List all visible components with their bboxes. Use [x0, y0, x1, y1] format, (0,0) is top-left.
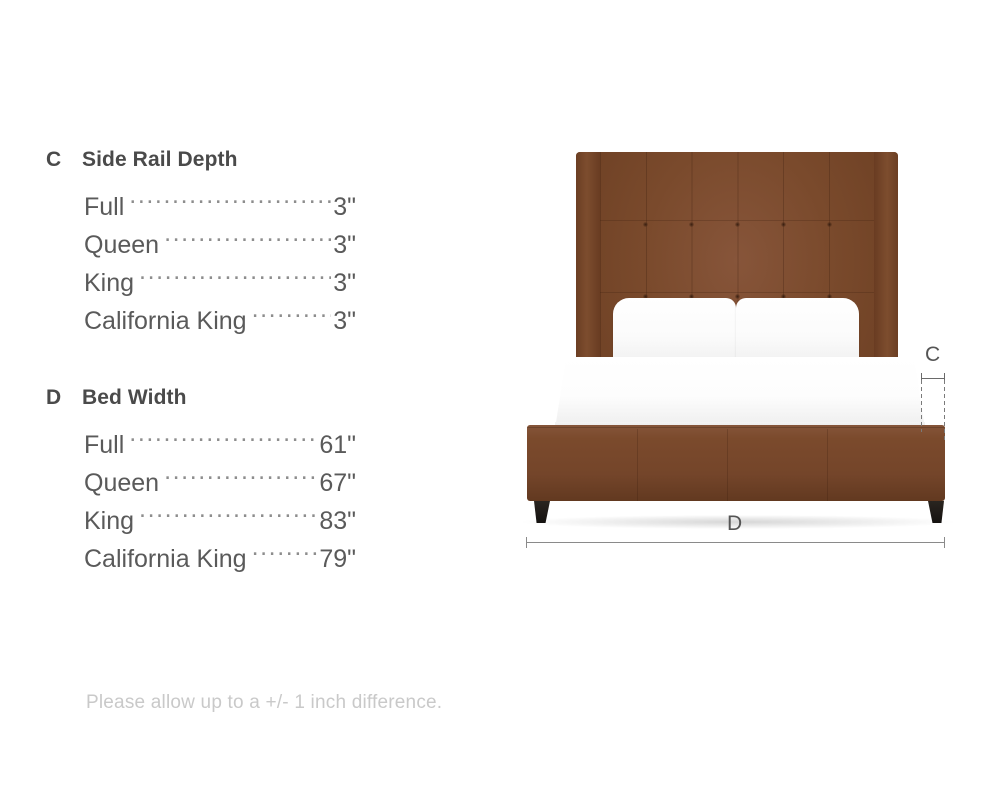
section-letter-badge: C — [46, 148, 82, 172]
pillow-group — [613, 298, 859, 362]
spec-value: 61" — [319, 426, 356, 464]
pillow-right — [736, 298, 859, 362]
spec-label: California King — [84, 302, 247, 340]
spec-label: California King — [84, 540, 247, 578]
dot-leader — [164, 466, 317, 491]
section-heading: C Side Rail Depth — [46, 148, 476, 172]
spec-value: 79" — [319, 540, 356, 578]
dot-leader — [139, 504, 317, 529]
spec-row-list: Full 61" Queen 67" King 83" California K… — [84, 426, 476, 578]
spec-row: California King 3" — [84, 302, 356, 340]
section-letter-badge: D — [46, 386, 82, 410]
spec-row: California King 79" — [84, 540, 356, 578]
spec-value: 3" — [333, 188, 356, 226]
spec-label: Full — [84, 426, 124, 464]
spec-label: King — [84, 264, 134, 302]
spec-section-bed-width: D Bed Width Full 61" Queen 67" King 83" … — [46, 386, 476, 578]
dimension-line-d — [526, 542, 945, 543]
spec-row: Queen 3" — [84, 226, 356, 264]
spec-label: Full — [84, 188, 124, 226]
spec-value: 67" — [319, 464, 356, 502]
spec-row: Full 3" — [84, 188, 356, 226]
dot-leader — [139, 266, 331, 291]
mattress — [555, 357, 925, 429]
spec-row-list: Full 3" Queen 3" King 3" California King… — [84, 188, 476, 340]
spec-value: 3" — [333, 226, 356, 264]
spec-section-side-rail-depth: C Side Rail Depth Full 3" Queen 3" King … — [46, 148, 476, 340]
spec-value: 83" — [319, 502, 356, 540]
dimension-guide-c-left — [921, 380, 922, 432]
spec-value: 3" — [333, 264, 356, 302]
specification-panel: C Side Rail Depth Full 3" Queen 3" King … — [46, 148, 476, 624]
side-rail-base — [527, 425, 945, 501]
section-heading: D Bed Width — [46, 386, 476, 410]
spec-row: King 83" — [84, 502, 356, 540]
pillow-left — [613, 298, 736, 362]
bed-diagram: C D — [505, 130, 975, 570]
spec-value: 3" — [333, 302, 356, 340]
spec-row: Full 61" — [84, 426, 356, 464]
dot-leader — [129, 190, 331, 215]
dot-leader — [252, 542, 318, 567]
spec-row: King 3" — [84, 264, 356, 302]
dimension-line-c — [921, 378, 945, 379]
dot-leader — [252, 304, 332, 329]
spec-label: King — [84, 502, 134, 540]
section-title: Bed Width — [82, 386, 187, 410]
footnote-text: Please allow up to a +/- 1 inch differen… — [86, 692, 442, 714]
spec-label: Queen — [84, 464, 159, 502]
spec-row: Queen 67" — [84, 464, 356, 502]
dimension-label-c: C — [925, 343, 940, 367]
dimension-guide-c-right — [944, 380, 945, 440]
section-title: Side Rail Depth — [82, 148, 238, 172]
dot-leader — [164, 228, 331, 253]
dimension-label-d: D — [727, 512, 742, 536]
spec-label: Queen — [84, 226, 159, 264]
dot-leader — [129, 428, 317, 453]
